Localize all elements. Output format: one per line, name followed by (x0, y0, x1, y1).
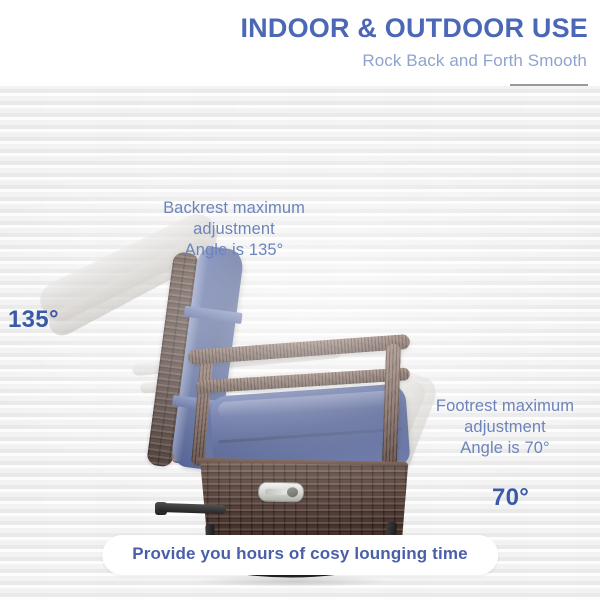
backrest-annotation: Backrest maximum adjustment Angle is 135… (134, 198, 334, 261)
product-chair-illustration (0, 86, 600, 600)
seat-cushion-highlight (218, 390, 397, 418)
footrest-annotation-line2: adjustment (415, 417, 595, 438)
header-band: INDOOR & OUTDOOR USE Rock Back and Forth… (0, 0, 600, 86)
footrest-annotation-line1: Footrest maximum (415, 396, 595, 417)
recline-lever[interactable] (258, 482, 304, 503)
header-divider-rule (510, 84, 588, 86)
backrest-angle-label: 135° (8, 306, 59, 334)
recline-lever-pin (287, 487, 298, 497)
page-subtitle: Rock Back and Forth Smooth (362, 51, 587, 71)
footrest-annotation: Footrest maximum adjustment Angle is 70° (415, 396, 595, 459)
footer-caption-pill: Provide you hours of cosy lounging time (102, 535, 498, 575)
footrest-angle-label: 70° (492, 484, 529, 512)
footrest-annotation-line3: Angle is 70° (415, 438, 595, 459)
seat-cushion-seam (218, 428, 402, 444)
backrest-annotation-line1: Backrest maximum (134, 198, 334, 219)
backrest-annotation-line2: adjustment (134, 219, 334, 240)
frame-support-bar (158, 503, 226, 514)
product-photo-background: Backrest maximum adjustment Angle is 135… (0, 86, 600, 600)
backrest-annotation-line3: Angle is 135° (134, 240, 334, 261)
page-title: INDOOR & OUTDOOR USE (240, 13, 588, 44)
recline-lever-slot (265, 489, 287, 495)
product-feature-image: Backrest maximum adjustment Angle is 135… (0, 0, 600, 600)
footer-caption-text: Provide you hours of cosy lounging time (132, 544, 468, 563)
